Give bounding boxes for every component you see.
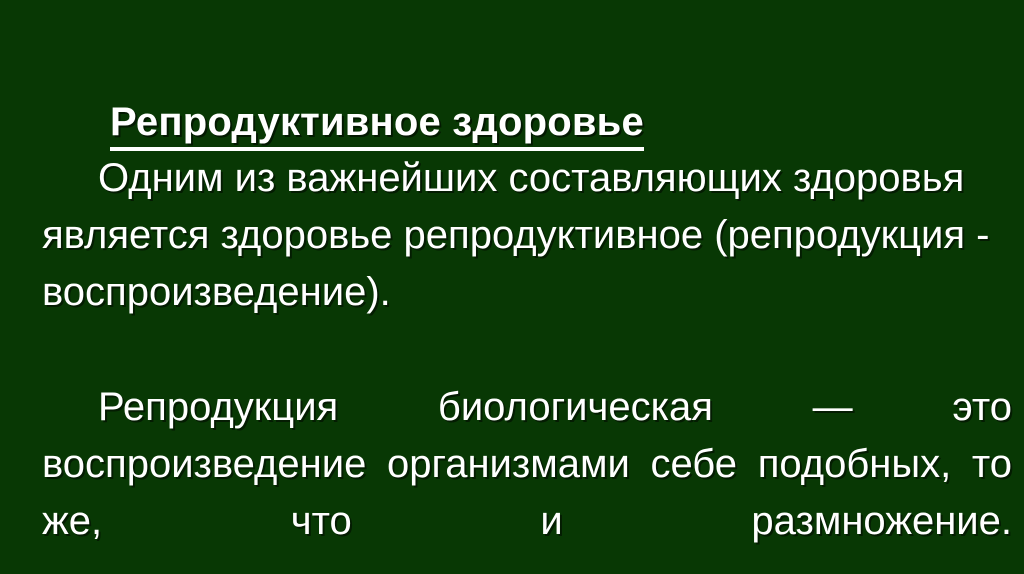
page-title-text: Репродуктивное здоровье	[110, 99, 644, 151]
body-paragraph-1: Одним из важнейших составляющих здоровья…	[42, 150, 1012, 321]
page-title: Репродуктивное здоровье	[110, 99, 940, 151]
slide-body: Одним из важнейших составляющих здоровья…	[42, 150, 1012, 574]
body-paragraph-2: Репродукция биологическая — это воспроиз…	[42, 379, 1012, 574]
slide-canvas: Репродуктивное здоровье Одним из важнейш…	[0, 0, 1024, 574]
